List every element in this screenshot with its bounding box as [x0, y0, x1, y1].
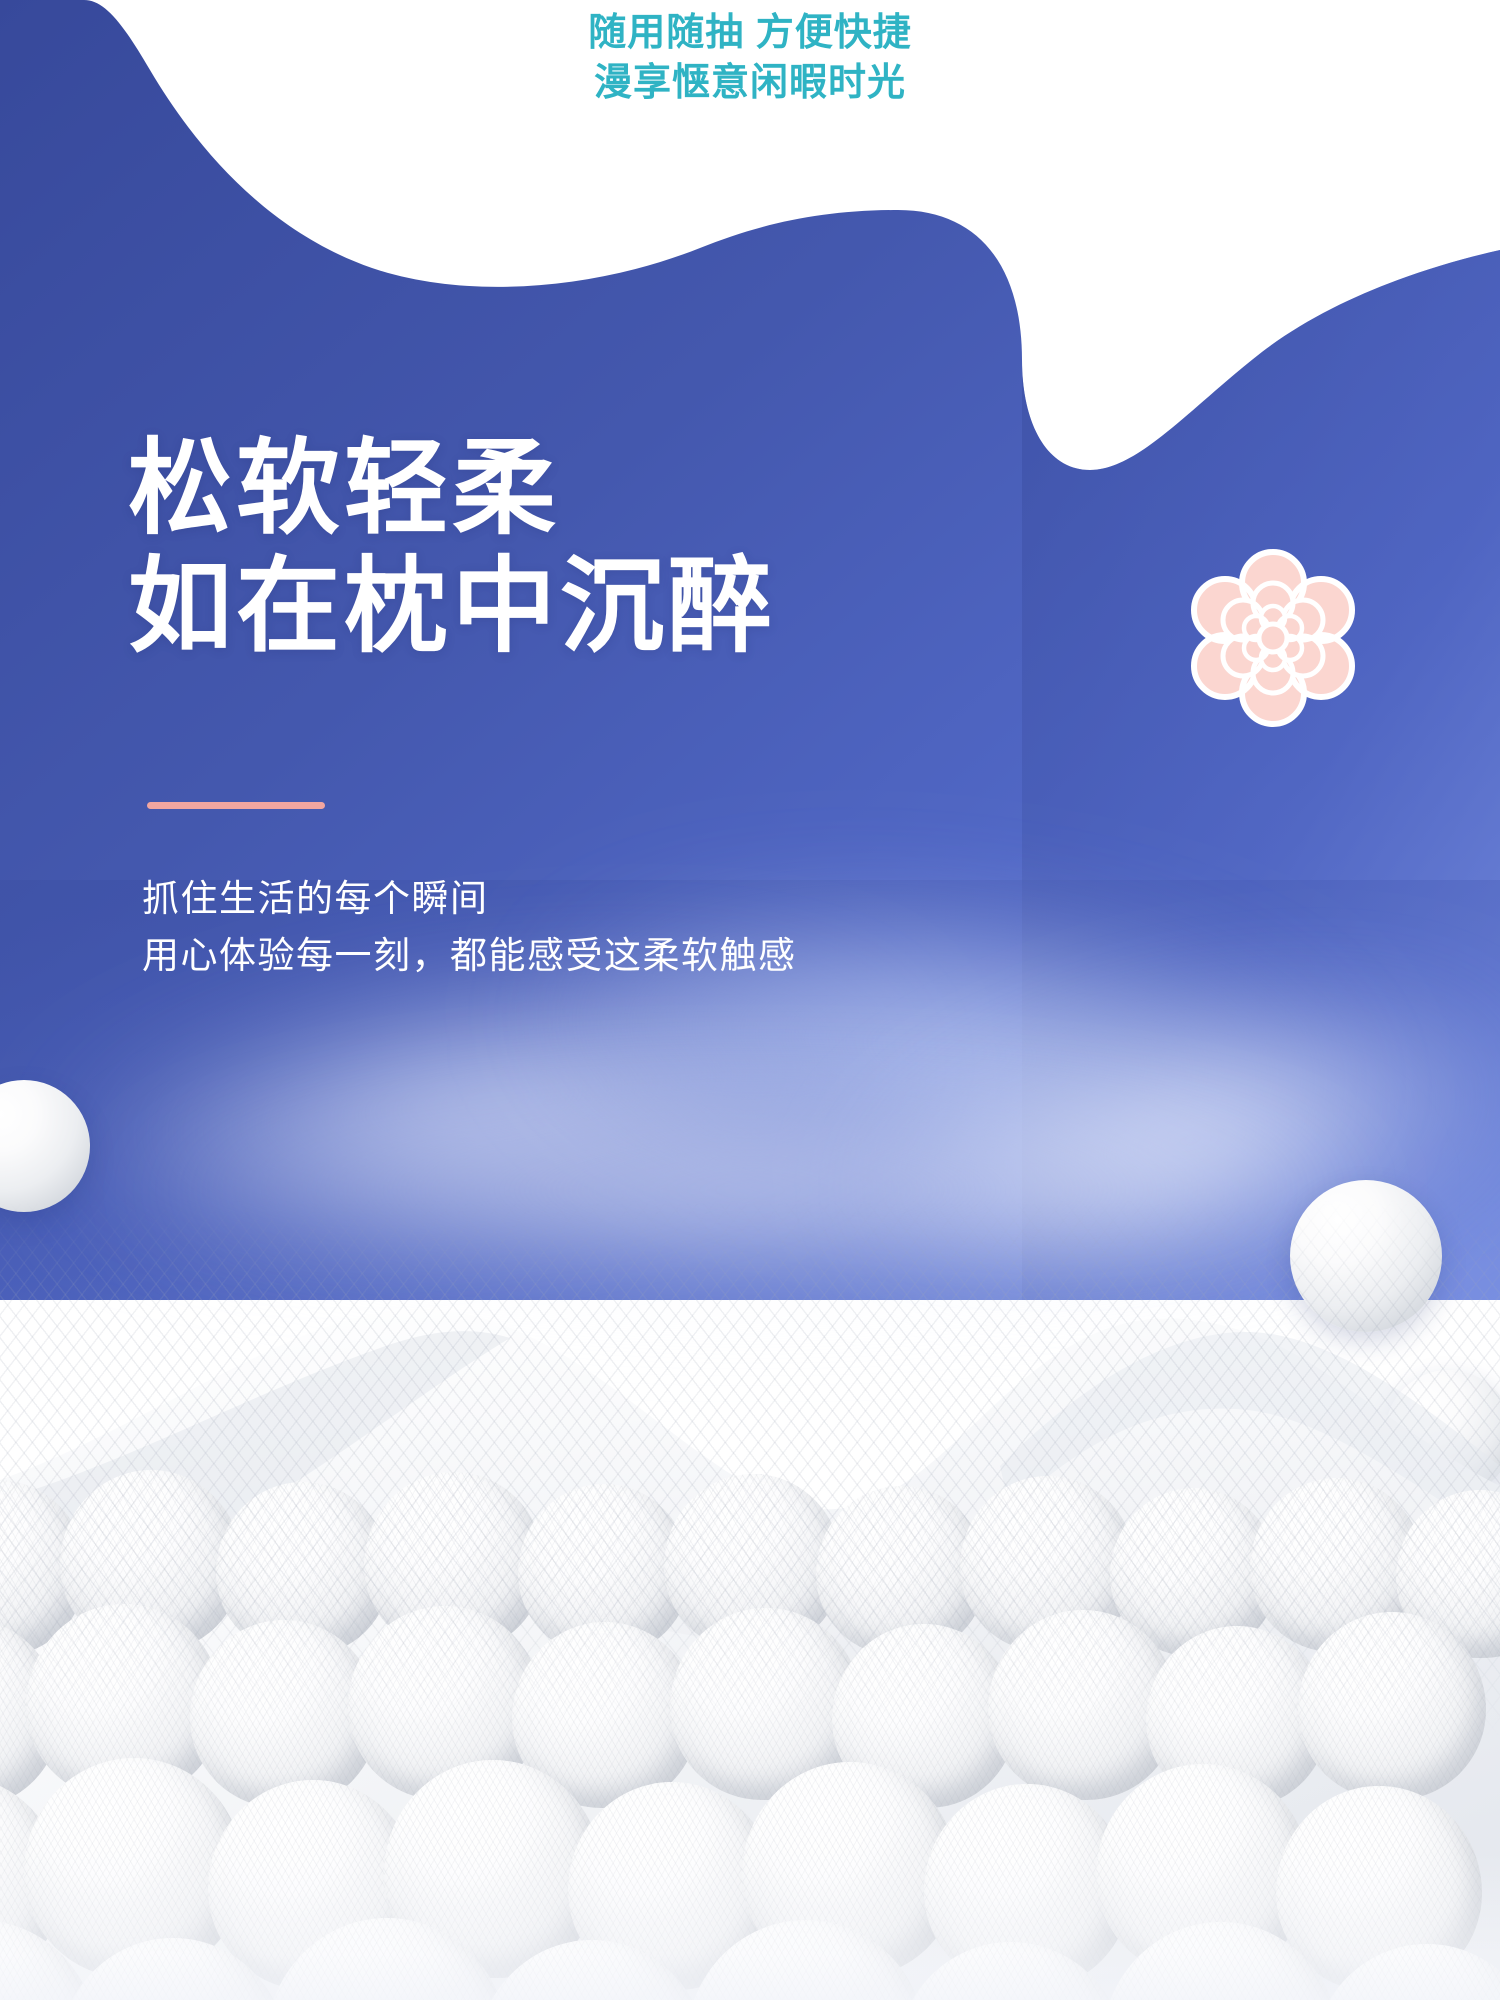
ball — [58, 1938, 288, 2000]
headline-line-1: 松软轻柔 — [128, 430, 776, 548]
flower-rosette-icon — [1188, 548, 1358, 728]
ball — [896, 1942, 1126, 2000]
ball — [476, 1940, 708, 2000]
product-marketing-poster: 随用随抽 方便快捷 漫享惬意闲暇时光 — [0, 0, 1500, 2000]
headline-line-2: 如在枕中沉醉 — [128, 548, 776, 666]
subtext: 抓住生活的每个瞬间 用心体验每一刻，都能感受这柔软触感 — [142, 870, 797, 984]
flower-rosette-svg — [1188, 548, 1358, 728]
ball — [1102, 1922, 1340, 2000]
ball — [266, 1918, 508, 2000]
divider-rule — [147, 802, 325, 809]
ball — [686, 1920, 926, 2000]
flower-core — [1259, 624, 1287, 652]
ball — [1312, 1944, 1500, 2000]
subtext-line-2: 用心体验每一刻，都能感受这柔软触感 — [142, 927, 797, 984]
subtext-line-1: 抓住生活的每个瞬间 — [142, 870, 797, 927]
headline: 松软轻柔 如在枕中沉醉 — [128, 430, 776, 666]
ball-row-4 — [0, 1900, 1500, 2000]
embossed-ball-field — [0, 1470, 1500, 2000]
